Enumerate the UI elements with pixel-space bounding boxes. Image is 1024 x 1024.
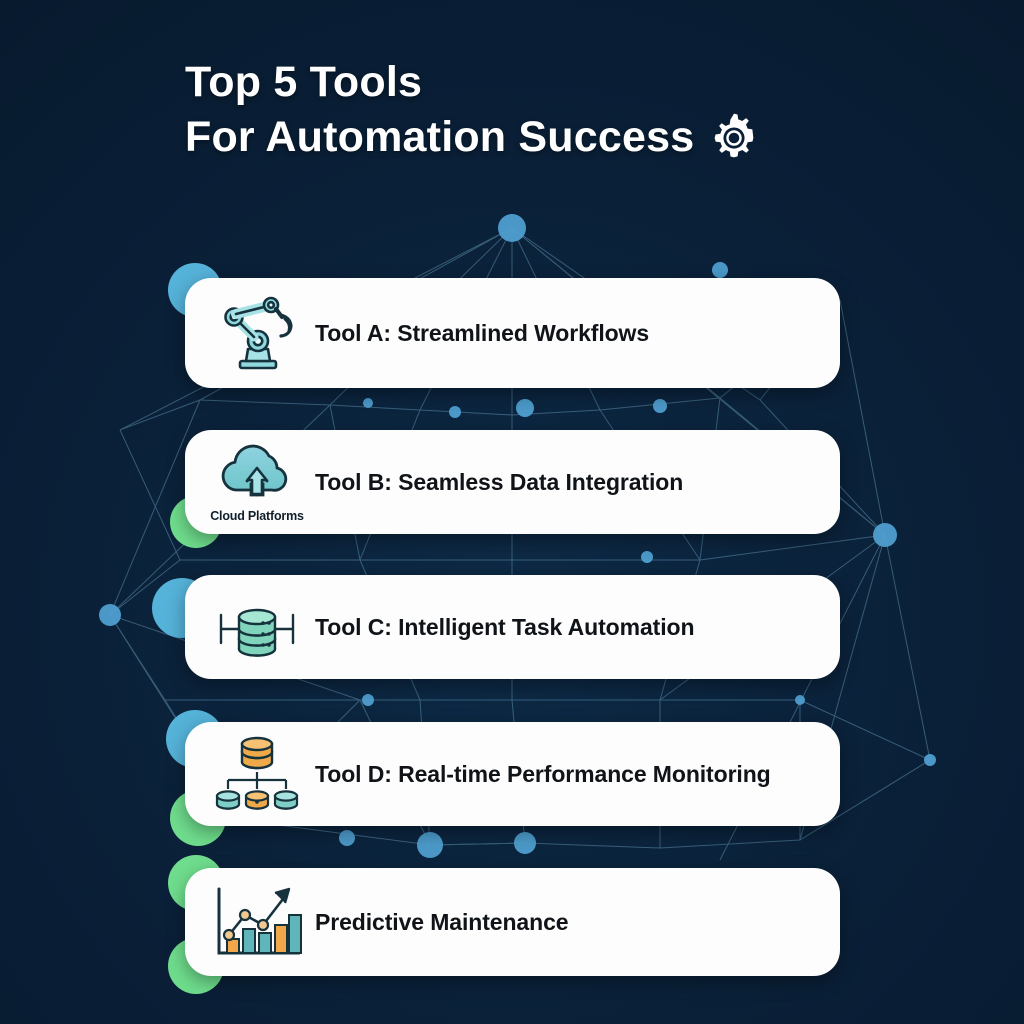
card-tool-d[interactable]: Tool D: Real-time Performance Monitoring	[185, 722, 840, 826]
card-predictive-maintenance[interactable]: Predictive Maintenance	[185, 868, 840, 976]
icon-caption: Cloud Platforms	[210, 509, 304, 523]
card-tool-a[interactable]: Tool A: Streamlined Workflows	[185, 278, 840, 388]
database-stack-icon	[211, 589, 303, 665]
robot-arm-icon	[214, 293, 300, 373]
card-icon-wrap	[185, 589, 315, 665]
card-label: Tool B: Seamless Data Integration	[315, 469, 683, 496]
card-label: Predictive Maintenance	[315, 909, 568, 936]
card-label: Tool D: Real-time Performance Monitoring	[315, 761, 771, 788]
infographic-canvas: Top 5 Tools For Automation Success	[0, 0, 1024, 1024]
gear-icon	[708, 112, 760, 164]
title-line-2: For Automation Success	[185, 110, 694, 165]
title-line-1: Top 5 Tools	[185, 55, 885, 110]
page-title: Top 5 Tools For Automation Success	[185, 55, 885, 165]
cloud-upload-icon	[214, 442, 300, 506]
card-label: Tool A: Streamlined Workflows	[315, 320, 649, 347]
card-icon-wrap	[185, 293, 315, 373]
card-tool-c[interactable]: Tool C: Intelligent Task Automation	[185, 575, 840, 679]
card-icon-wrap	[185, 883, 315, 961]
card-tool-b[interactable]: Cloud Platforms Tool B: Seamless Data In…	[185, 430, 840, 534]
bar-chart-trend-icon	[209, 883, 305, 961]
card-label: Tool C: Intelligent Task Automation	[315, 614, 694, 641]
title-line-2-row: For Automation Success	[185, 110, 885, 165]
card-icon-wrap	[185, 734, 315, 814]
database-tree-icon	[210, 734, 304, 814]
card-icon-wrap: Cloud Platforms	[185, 442, 315, 523]
